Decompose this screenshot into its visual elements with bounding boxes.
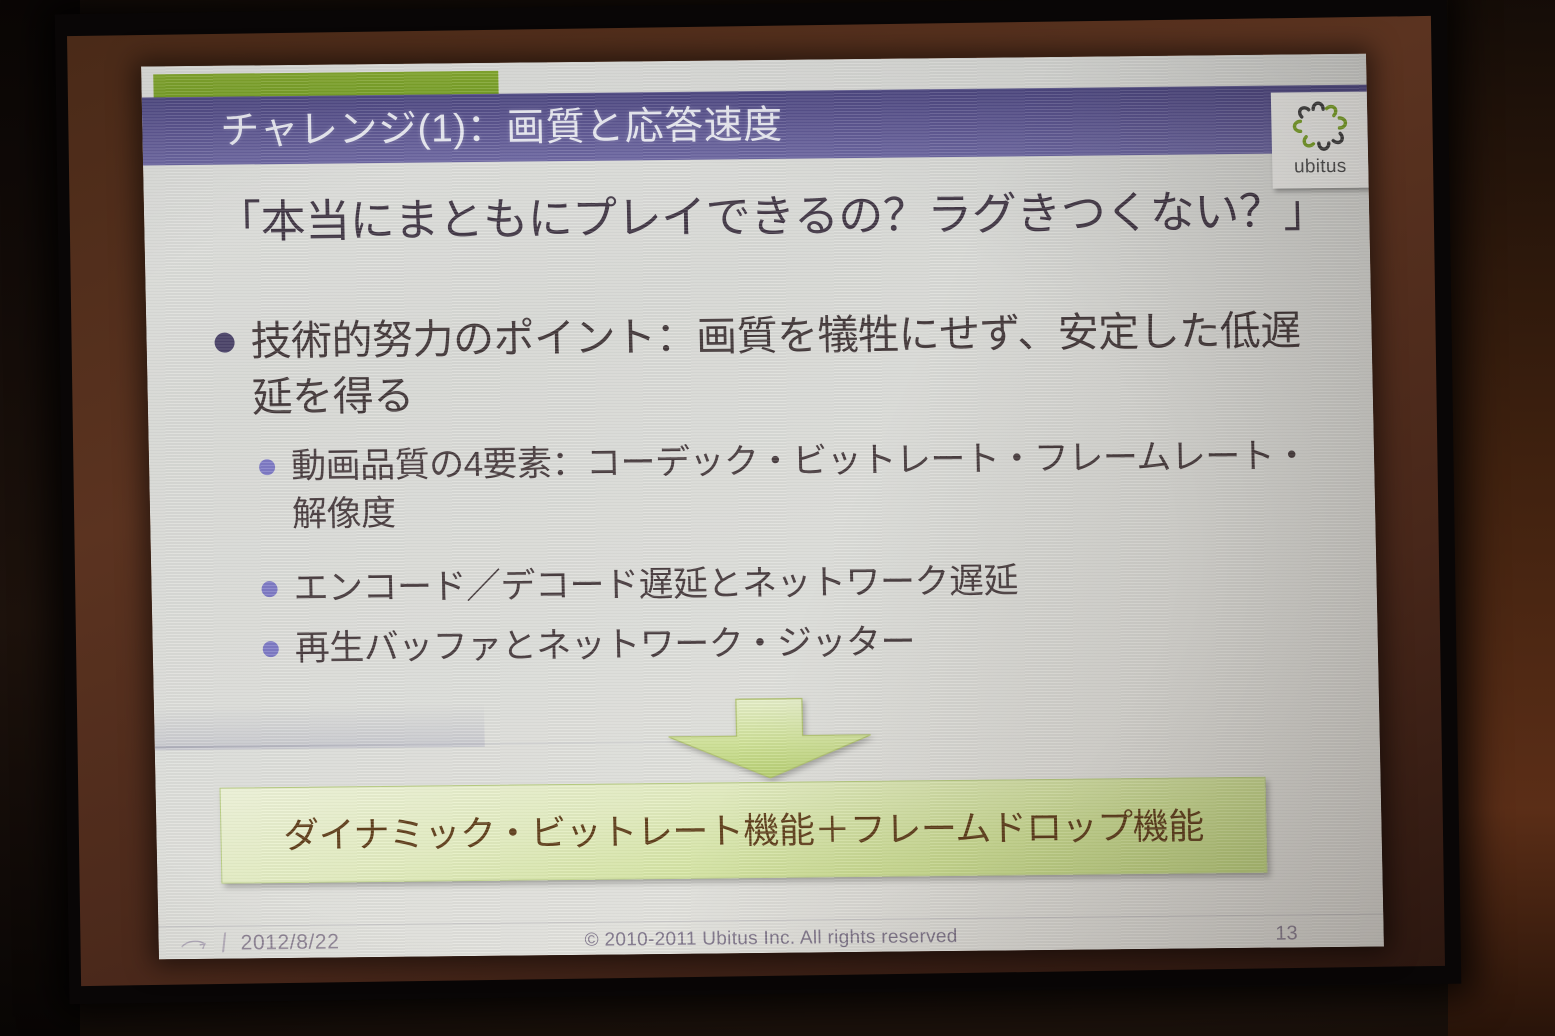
bullet-level2-video-quality: 動画品質の4要素：コーデック・ビットレート・フレームレート・解像度 xyxy=(253,432,1315,539)
bullet-dot-icon xyxy=(214,333,234,353)
footer-page-number: 13 xyxy=(1275,922,1298,945)
bullet-level2-encode-decode-latency: エンコード／デコード遅延とネットワーク遅延 xyxy=(255,554,1316,613)
bullet-level1-text: 技術的努力のポイント：画質を犠牲にせず、安定した低遅延を得る xyxy=(250,302,1316,425)
slide-canvas: チャレンジ(1)：画質と応答速度 ubitus 「本当にまともにプレイでき xyxy=(141,54,1384,960)
projected-slide: チャレンジ(1)：画質と応答速度 ubitus 「本当にまともにプレイでき xyxy=(141,54,1384,960)
sub-bullet-dot-icon xyxy=(263,641,279,657)
bullet-level1: 技術的努力のポイント：画質を犠牲にせず、安定した低遅延を得る xyxy=(204,302,1316,426)
bullet-level2-buffer-jitter: 再生バッファとネットワーク・ジッター xyxy=(256,614,1317,673)
bullet-level2-text: 動画品質の4要素：コーデック・ビットレート・フレームレート・解像度 xyxy=(291,432,1315,539)
callout-box: ダイナミック・ビットレート機能＋フレームドロップ機能 xyxy=(220,777,1268,884)
slide-title: チャレンジ(1)：画質と応答速度 xyxy=(220,95,1271,158)
ubitus-logo: ubitus xyxy=(1271,92,1369,189)
ubitus-circular-mark-icon xyxy=(1287,100,1352,159)
slide-headline-quote: 「本当にまともにプレイできるの？ラグきつくない？」 xyxy=(216,182,1307,251)
sub-bullet-dot-icon xyxy=(259,459,275,475)
ubitus-wordmark: ubitus xyxy=(1272,156,1368,179)
bullet-level2-text: 再生バッファとネットワーク・ジッター xyxy=(294,614,1317,673)
bullet-level2-text: エンコード／デコード遅延とネットワーク遅延 xyxy=(293,554,1316,613)
callout-text: ダイナミック・ビットレート機能＋フレームドロップ機能 xyxy=(221,800,1266,863)
down-arrow-icon xyxy=(666,697,874,781)
room-wall-right xyxy=(1448,0,1555,1036)
sub-bullet-dot-icon xyxy=(261,581,277,597)
